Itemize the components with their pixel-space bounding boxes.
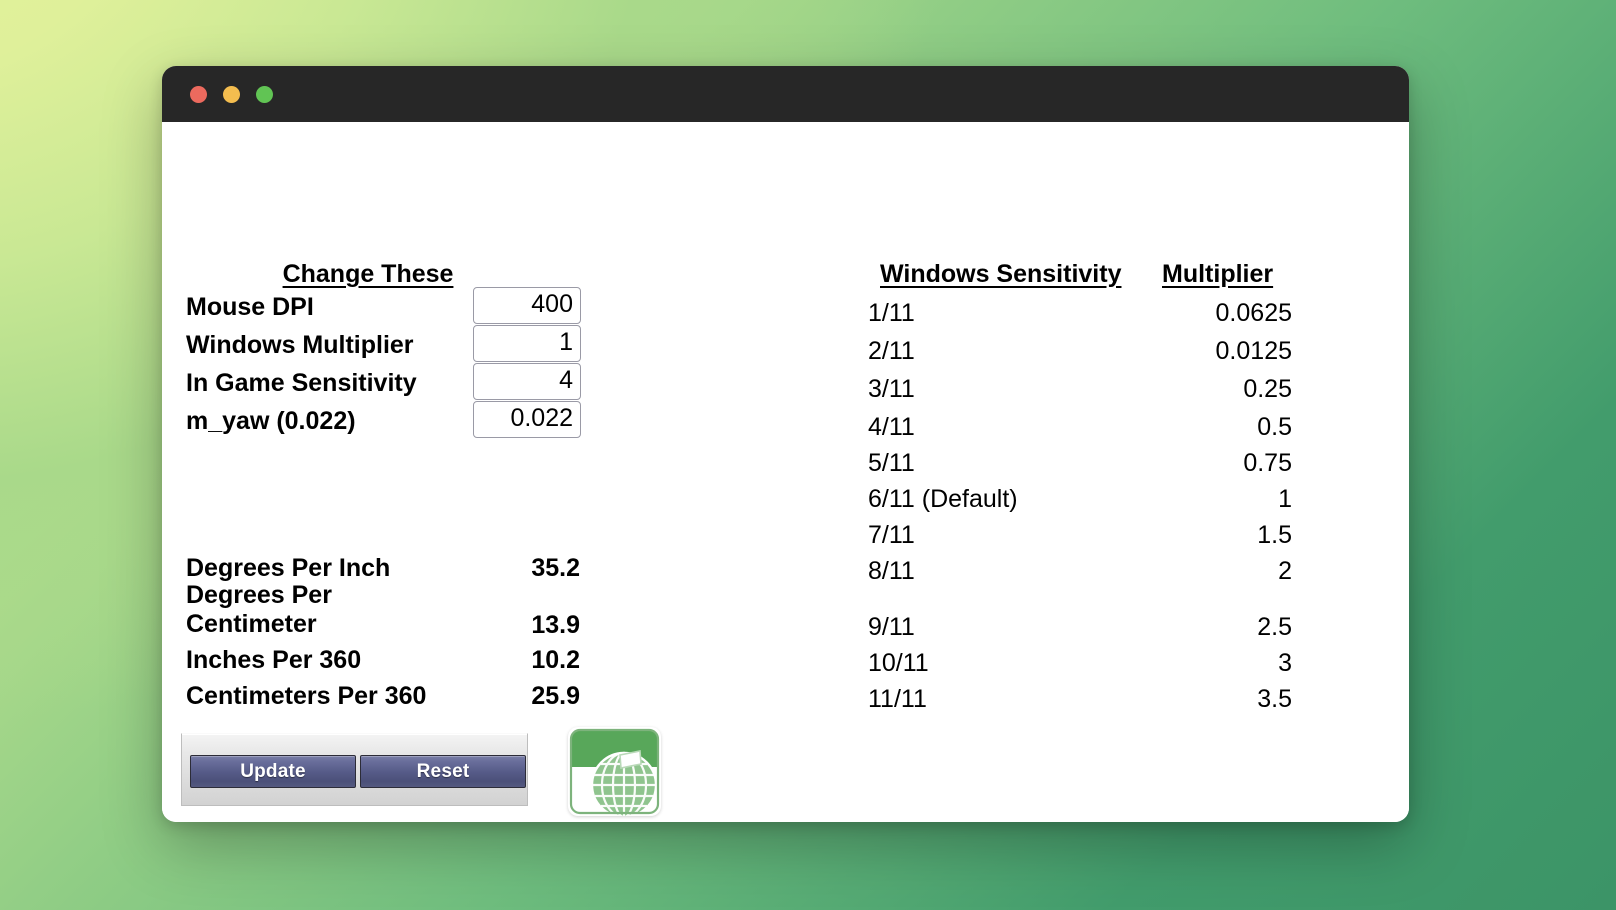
mouse-dpi-input[interactable] xyxy=(473,287,581,324)
label-inches-per-360: Inches Per 360 xyxy=(186,646,361,675)
label-centimeters-per-360: Centimeters Per 360 xyxy=(186,682,426,711)
table-row: 0.25 xyxy=(1142,375,1292,404)
value-inches-per-360: 10.2 xyxy=(462,646,580,675)
value-degrees-per-centimeter: 13.9 xyxy=(462,611,580,640)
m-yaw-input[interactable] xyxy=(473,401,581,438)
table-row: 10/11 xyxy=(868,649,929,678)
window-titlebar xyxy=(162,66,1409,122)
table-row: 0.75 xyxy=(1142,449,1292,478)
table-row: 1/11 xyxy=(868,299,915,328)
table-row: 3/11 xyxy=(868,375,915,404)
table-row: 3.5 xyxy=(1142,685,1292,714)
table-row: 7/11 xyxy=(868,521,915,550)
app-window: Change These Mouse DPI Windows Multiplie… xyxy=(162,66,1409,822)
close-window-button[interactable] xyxy=(190,86,207,103)
col-header-multiplier: Multiplier xyxy=(1162,260,1273,289)
action-button-bar: Update Reset xyxy=(181,733,528,806)
table-row: 3 xyxy=(1142,649,1292,678)
table-row: 2 xyxy=(1142,557,1292,586)
label-windows-multiplier: Windows Multiplier xyxy=(186,331,414,360)
label-degrees-per-centimeter: Degrees Per Centimeter xyxy=(186,581,366,638)
label-m-yaw: m_yaw (0.022) xyxy=(186,407,356,436)
excel-globe-icon[interactable] xyxy=(568,727,661,816)
value-centimeters-per-360: 25.9 xyxy=(462,682,580,711)
table-row: 4/11 xyxy=(868,413,915,442)
in-game-sensitivity-input[interactable] xyxy=(473,363,581,400)
table-row: 2/11 xyxy=(868,337,915,366)
table-row: 1.5 xyxy=(1142,521,1292,550)
reset-button[interactable]: Reset xyxy=(360,755,526,788)
table-row: 9/11 xyxy=(868,613,915,642)
label-degrees-per-inch: Degrees Per Inch xyxy=(186,554,390,583)
col-header-windows-sensitivity: Windows Sensitivity xyxy=(880,260,1121,289)
spreadsheet-content: Change These Mouse DPI Windows Multiplie… xyxy=(162,122,1409,822)
table-row: 5/11 xyxy=(868,449,915,478)
table-row: 8/11 xyxy=(868,557,915,586)
update-button[interactable]: Update xyxy=(190,755,356,788)
maximize-window-button[interactable] xyxy=(256,86,273,103)
change-these-heading: Change These xyxy=(238,260,498,289)
label-mouse-dpi: Mouse DPI xyxy=(186,293,314,322)
table-row: 1 xyxy=(1142,485,1292,514)
windows-multiplier-input[interactable] xyxy=(473,325,581,362)
table-row: 0.0625 xyxy=(1142,299,1292,328)
table-row: 0.5 xyxy=(1142,413,1292,442)
table-row: 11/11 xyxy=(868,685,927,714)
table-row: 2.5 xyxy=(1142,613,1292,642)
minimize-window-button[interactable] xyxy=(223,86,240,103)
label-in-game-sensitivity: In Game Sensitivity xyxy=(186,369,417,398)
table-row: 0.0125 xyxy=(1142,337,1292,366)
table-row: 6/11 (Default) xyxy=(868,485,1018,514)
value-degrees-per-inch: 35.2 xyxy=(462,554,580,583)
